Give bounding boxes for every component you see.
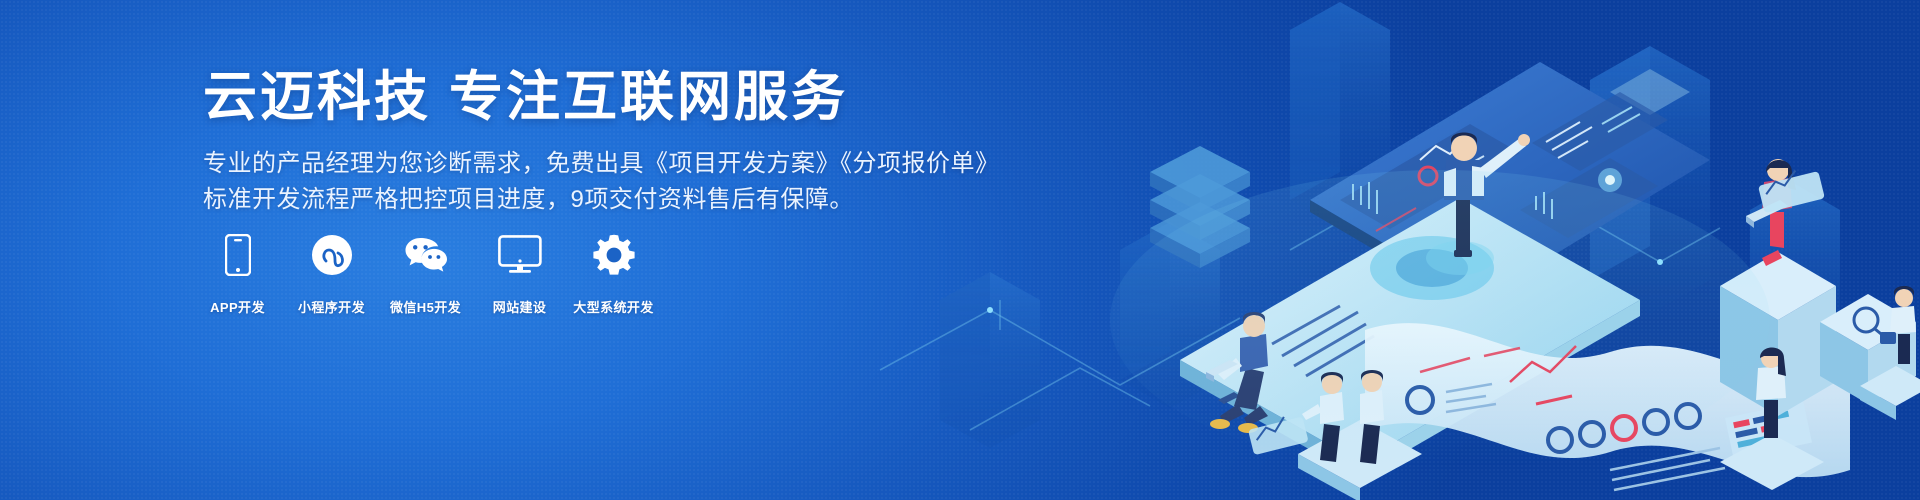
service-item-mini-program[interactable]: 小程序开发 xyxy=(294,232,369,316)
gear-icon xyxy=(591,232,637,278)
wechat-icon xyxy=(403,232,449,278)
service-label: 大型系统开发 xyxy=(573,297,653,316)
page-title: 云迈科技 专注互联网服务 xyxy=(203,66,848,128)
subtitle-line-2: 标准开发流程严格把控项目进度，9项交付资料售后有保障。 xyxy=(203,182,1000,218)
service-label: APP开发 xyxy=(210,297,265,316)
service-item-app[interactable]: APP开发 xyxy=(200,232,275,316)
service-label: 网站建设 xyxy=(493,297,547,316)
service-label: 小程序开发 xyxy=(298,297,365,316)
service-label: 微信H5开发 xyxy=(390,297,461,316)
service-item-wechat-h5[interactable]: 微信H5开发 xyxy=(388,232,463,316)
banner-subtitle: 专业的产品经理为您诊断需求，免费出具《项目开发方案》《分项报价单》 标准开发流程… xyxy=(203,146,1000,218)
service-item-website[interactable]: 网站建设 xyxy=(482,232,557,316)
illustration-isometric-tech-scene xyxy=(820,0,1920,500)
hero-banner: 云迈科技 专注互联网服务 专业的产品经理为您诊断需求，免费出具《项目开发方案》《… xyxy=(0,0,1920,500)
mobile-phone-icon xyxy=(215,232,261,278)
mini-program-icon xyxy=(309,232,355,278)
service-list: APP开发 小程序开发 xyxy=(200,232,651,316)
service-item-large-system[interactable]: 大型系统开发 xyxy=(576,232,651,316)
desktop-monitor-icon xyxy=(497,232,543,278)
subtitle-line-1: 专业的产品经理为您诊断需求，免费出具《项目开发方案》《分项报价单》 xyxy=(203,146,1000,182)
banner-content: 云迈科技 专注互联网服务 专业的产品经理为您诊断需求，免费出具《项目开发方案》《… xyxy=(0,0,920,500)
illustration-svg xyxy=(820,0,1920,500)
